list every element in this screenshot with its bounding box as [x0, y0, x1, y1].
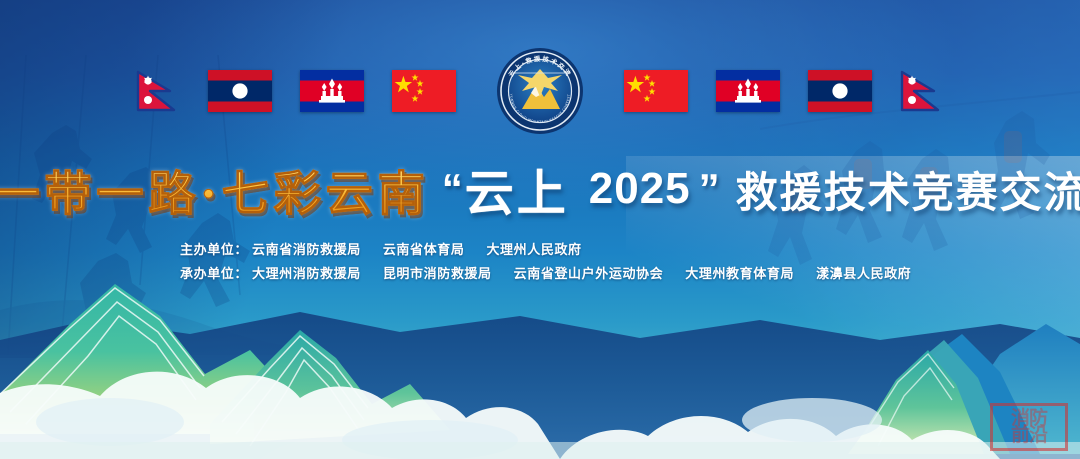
title-quote-open: “	[442, 165, 463, 213]
laos-flag	[808, 70, 872, 112]
organizer-block: 主办单位：云南省消防救援局云南省体育局大理州人民政府 承办单位：大理州消防救援局…	[180, 238, 1020, 286]
laos-flag	[208, 70, 272, 112]
cohost-item: 云南省登山户外运动协会	[514, 266, 664, 281]
cohost-line: 承办单位：大理州消防救援局昆明市消防救援局云南省登山户外运动协会大理州教育体育局…	[180, 262, 1020, 286]
title-highlight: 云上	[465, 154, 569, 225]
title-tail-part: 救援技术竞赛交流	[736, 159, 1080, 220]
host-item: 云南省消防救援局	[252, 242, 361, 257]
promo-banner: 云上·救援技术交流 YUNNAN CLOUD MOUNTAIN RESCUE C…	[0, 0, 1080, 459]
watermark-line-2: 前沿	[1011, 427, 1047, 444]
host-label: 主办单位：	[180, 242, 248, 257]
cohost-item: 昆明市消防救援局	[383, 266, 492, 281]
cohost-item: 大理州消防救援局	[252, 266, 361, 281]
title-year: 2025	[589, 164, 691, 214]
cohost-label: 承办单位：	[180, 266, 248, 281]
china-flag	[624, 70, 688, 112]
host-line: 主办单位：云南省消防救援局云南省体育局大理州人民政府	[180, 238, 1020, 262]
cohost-item: 漾濞县人民政府	[816, 266, 911, 281]
cambodia-flag	[716, 70, 780, 112]
title-gold-part: 一带一路·七彩云南	[0, 155, 430, 224]
host-item: 大理州人民政府	[486, 242, 581, 257]
cohost-item: 大理州教育体育局	[685, 266, 794, 281]
watermark: 消防 前沿	[990, 403, 1068, 451]
host-item: 云南省体育局	[383, 242, 465, 257]
title-quote-close: ”	[699, 165, 720, 213]
china-flag	[392, 70, 456, 112]
yunshang-rescue-emblem: 云上·救援技术交流 YUNNAN CLOUD MOUNTAIN RESCUE C…	[496, 47, 584, 135]
main-title: 一带一路·七彩云南 “ 云上 2025 ” 救援技术竞赛交流	[0, 150, 1080, 228]
nepal-flag	[136, 70, 180, 112]
flag-row: 云上·救援技术交流 YUNNAN CLOUD MOUNTAIN RESCUE C…	[0, 61, 1080, 121]
cambodia-flag	[300, 70, 364, 112]
nepal-flag	[900, 70, 944, 112]
